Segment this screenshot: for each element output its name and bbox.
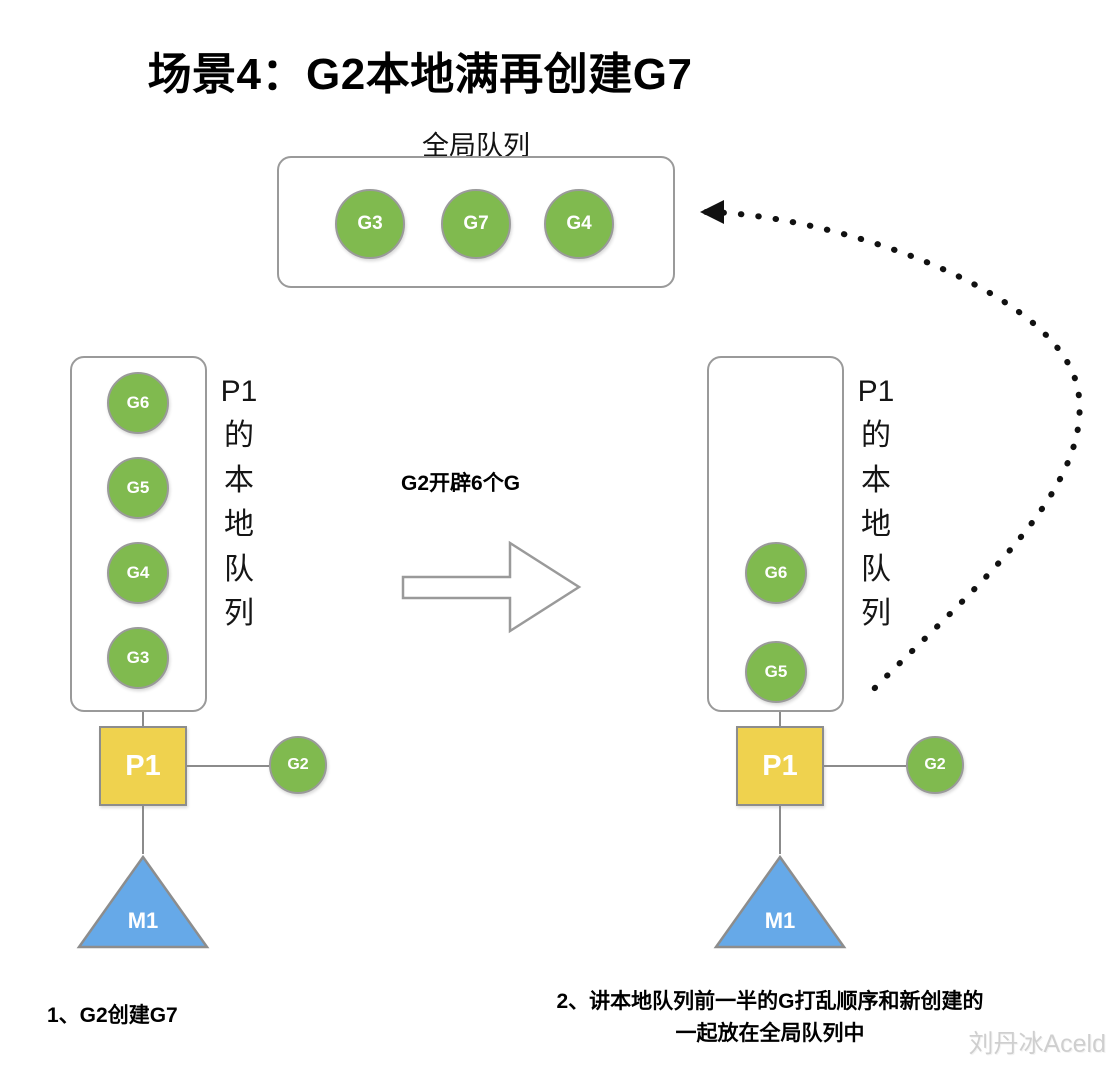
left-stage-caption: 1、G2创建G7 (47, 1000, 178, 1032)
left-local-queue-owner-label: P1 的 本 地 队 列 (218, 370, 260, 636)
owner-label-char: 的 (218, 414, 260, 458)
watermark: 刘丹冰Aceld (968, 1024, 1106, 1060)
right-running-goroutine[interactable]: G2 (906, 736, 964, 794)
owner-label-char: P1 (855, 370, 897, 414)
right-stage-caption-line1: 2、讲本地队列前一半的G打乱顺序和新创建的 (470, 986, 1070, 1018)
page-title: 场景4：G2本地满再创建G7 (0, 38, 840, 102)
triangle-icon (76, 854, 210, 950)
global-queue-goroutine[interactable]: G7 (441, 189, 511, 259)
left-local-queue-goroutine[interactable]: G5 (107, 457, 169, 519)
owner-label-char: P1 (218, 370, 260, 414)
owner-label-char: 的 (855, 414, 897, 458)
owner-label-char: 本 (218, 459, 260, 503)
left-machine[interactable]: M1 (76, 854, 210, 950)
owner-label-char: 地 (218, 503, 260, 547)
right-arrow-icon (400, 540, 582, 635)
transition-label: G2开辟6个G (401, 467, 520, 497)
owner-label-char: 列 (218, 592, 260, 636)
left-queue-to-processor-connector (142, 712, 144, 726)
right-local-queue-goroutine[interactable]: G6 (745, 542, 807, 604)
right-processor-to-goroutine-connector (824, 765, 906, 767)
left-processor-to-machine-connector (142, 806, 144, 854)
owner-label-char: 列 (855, 592, 897, 636)
owner-label-char: 地 (855, 503, 897, 547)
triangle-icon (713, 854, 847, 950)
right-local-queue-goroutine[interactable]: G5 (745, 641, 807, 703)
global-queue-goroutine[interactable]: G3 (335, 189, 405, 259)
owner-label-char: 队 (218, 548, 260, 592)
right-local-queue-owner-label: P1 的 本 地 队 列 (855, 370, 897, 636)
left-local-queue-goroutine[interactable]: G3 (107, 627, 169, 689)
right-processor-to-machine-connector (779, 806, 781, 854)
right-processor[interactable]: P1 (736, 726, 824, 806)
left-processor-to-goroutine-connector (187, 765, 269, 767)
owner-label-char: 队 (855, 548, 897, 592)
owner-label-char: 本 (855, 459, 897, 503)
left-local-queue-goroutine[interactable]: G4 (107, 542, 169, 604)
diagram-canvas: 场景4：G2本地满再创建G7 全局队列 G3 G7 G4 G6 G5 G4 G3… (0, 0, 1120, 1068)
right-machine[interactable]: M1 (713, 854, 847, 950)
left-running-goroutine[interactable]: G2 (269, 736, 327, 794)
left-local-queue-goroutine[interactable]: G6 (107, 372, 169, 434)
right-queue-to-processor-connector (779, 712, 781, 726)
left-processor[interactable]: P1 (99, 726, 187, 806)
global-queue-goroutine[interactable]: G4 (544, 189, 614, 259)
